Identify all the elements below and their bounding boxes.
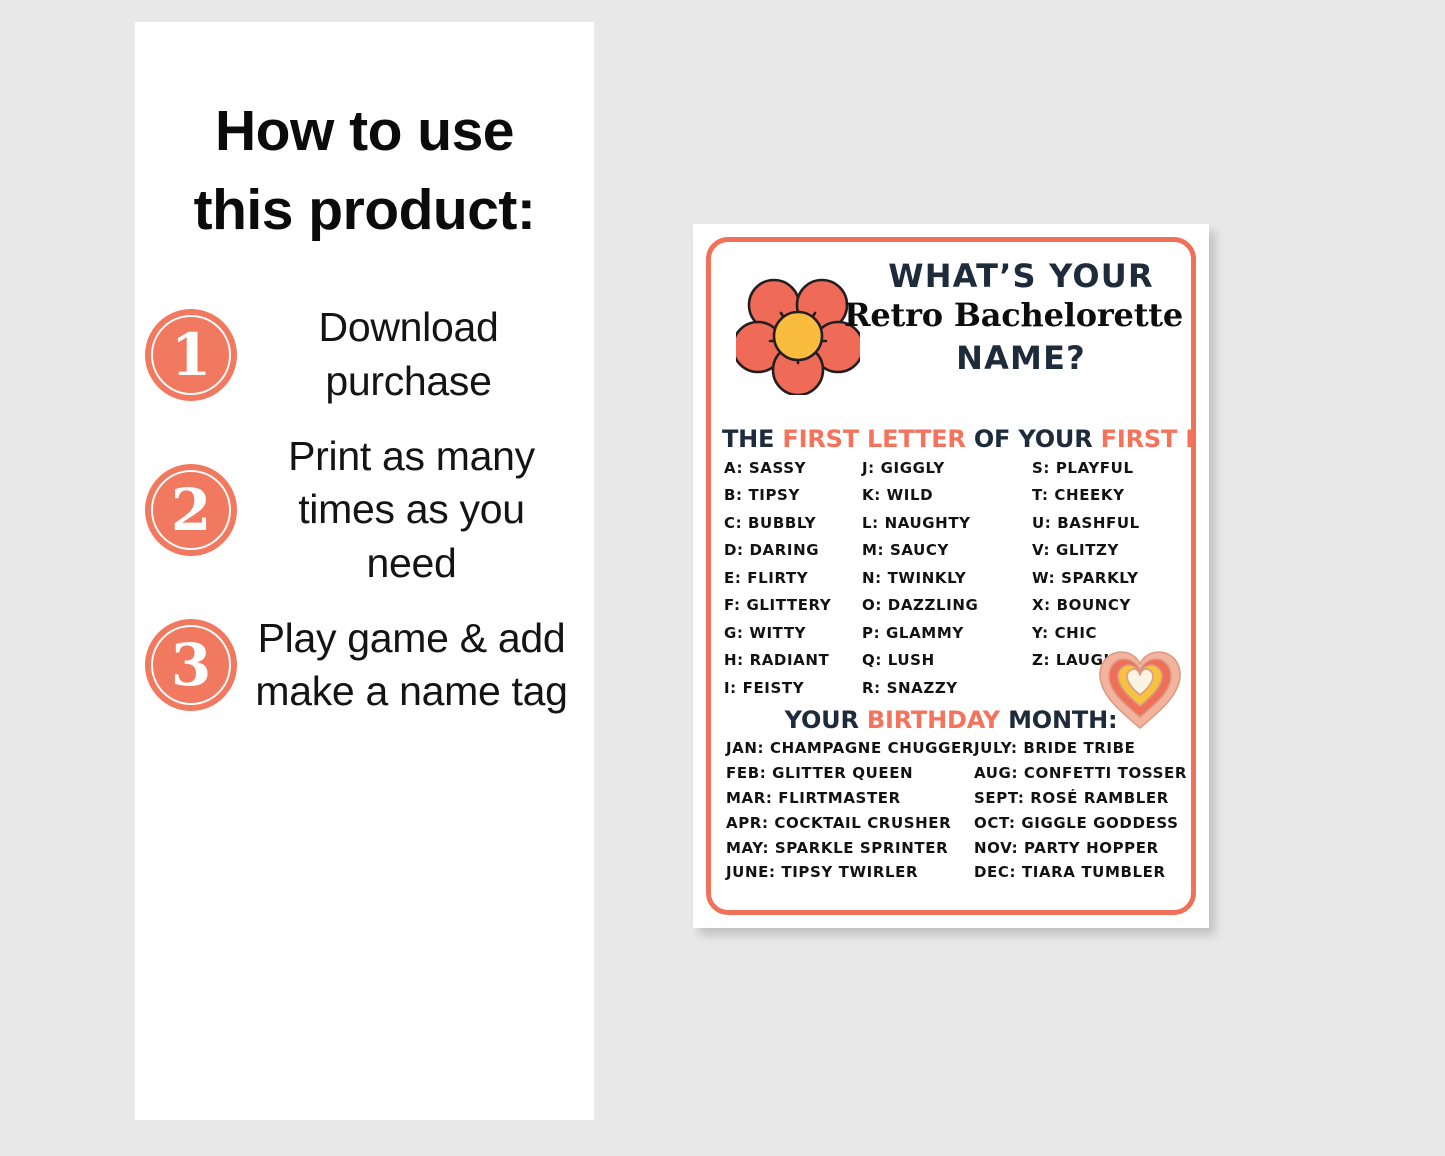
poster-title-line2: Retro Bachelorette: [844, 296, 1182, 336]
month-item: FEB: GLITTER QUEEN: [726, 761, 974, 786]
letters-column-1: A: SASSY B: TIPSY C: BUBBLY D: DARING E:…: [724, 455, 862, 702]
month-item: JULY: BRIDE TRIBE: [974, 736, 1196, 761]
months-heading-part2: BIRTHDAY: [867, 706, 1000, 734]
letter-item: Y: CHIC: [1032, 620, 1192, 647]
step-text-1: Download purchase: [251, 301, 572, 408]
step-text-2: Print as many times as you need: [251, 430, 572, 590]
letter-item: K: WILD: [862, 482, 1032, 509]
letter-item: J: GIGGLY: [862, 455, 1032, 482]
step-number-badge-3: 3: [145, 619, 237, 711]
letter-item: Q: LUSH: [862, 647, 1032, 674]
letter-item: W: SPARKLY: [1032, 565, 1192, 592]
months-column-2: JULY: BRIDE TRIBE AUG: CONFETTI TOSSER S…: [974, 736, 1196, 885]
letters-heading-part2: FIRST LETTER: [782, 425, 965, 453]
months-grid: JAN: CHAMPAGNE CHUGGER FEB: GLITTER QUEE…: [720, 736, 1182, 885]
letter-item: P: GLAMMY: [862, 620, 1032, 647]
list-item: 1 Download purchase: [145, 301, 572, 408]
step-number-2: 2: [171, 481, 211, 539]
letter-item: U: BASHFUL: [1032, 510, 1192, 537]
page-title: How to use this product:: [135, 22, 594, 249]
step-number-badge-1: 1: [145, 309, 237, 401]
letter-item: O: DAZZLING: [862, 592, 1032, 619]
month-item: MAR: FLIRTMASTER: [726, 786, 974, 811]
letter-item: M: SAUCY: [862, 537, 1032, 564]
months-heading-part1: YOUR: [785, 706, 867, 734]
letter-item: C: BUBBLY: [724, 510, 862, 537]
step-number-3: 3: [171, 636, 211, 694]
month-item: DEC: TIARA TUMBLER: [974, 860, 1196, 885]
letter-item: A: SASSY: [724, 455, 862, 482]
letter-item: N: TWINKLY: [862, 565, 1032, 592]
step-number-1: 1: [171, 326, 211, 384]
poster-title-block: WHAT’S YOUR Retro Bachelorette NAME?: [860, 259, 1182, 377]
month-item: APR: COCKTAIL CRUSHER: [726, 811, 974, 836]
letter-item: L: NAUGHTY: [862, 510, 1032, 537]
letter-item: F: GLITTERY: [724, 592, 862, 619]
letter-item: E: FLIRTY: [724, 565, 862, 592]
month-item: JUNE: TIPSY TWIRLER: [726, 860, 974, 885]
poster-title-line1: WHAT’S YOUR: [860, 259, 1182, 294]
letters-column-2: J: GIGGLY K: WILD L: NAUGHTY M: SAUCY N:…: [862, 455, 1032, 702]
poster-card: WHAT’S YOUR Retro Bachelorette NAME? THE…: [693, 224, 1209, 928]
months-column-1: JAN: CHAMPAGNE CHUGGER FEB: GLITTER QUEE…: [726, 736, 974, 885]
month-item: AUG: CONFETTI TOSSER: [974, 761, 1196, 786]
letters-heading-part3: OF YOUR: [966, 425, 1101, 453]
letters-section-heading: THE FIRST LETTER OF YOUR FIRST NAME:: [720, 427, 1182, 451]
steps-list: 1 Download purchase 2 Print as many time…: [135, 249, 594, 718]
letter-item: B: TIPSY: [724, 482, 862, 509]
month-item: JAN: CHAMPAGNE CHUGGER: [726, 736, 974, 761]
month-item: NOV: PARTY HOPPER: [974, 836, 1196, 861]
step-number-badge-2: 2: [145, 464, 237, 556]
flower-icon: [736, 271, 860, 395]
list-item: 3 Play game & add make a name tag: [145, 612, 572, 719]
letters-heading-part1: THE: [722, 425, 782, 453]
poster-header: WHAT’S YOUR Retro Bachelorette NAME?: [720, 253, 1182, 421]
letters-heading-part4: FIRST NAME:: [1101, 425, 1196, 453]
month-item: SEPT: ROSÉ RAMBLER: [974, 786, 1196, 811]
heart-icon: [1094, 644, 1186, 730]
month-item: OCT: GIGGLE GODDESS: [974, 811, 1196, 836]
letter-item: H: RADIANT: [724, 647, 862, 674]
letter-item: V: GLITZY: [1032, 537, 1192, 564]
letter-item: S: PLAYFUL: [1032, 455, 1192, 482]
instructions-panel: How to use this product: 1 Download purc…: [135, 22, 594, 1120]
letter-item: D: DARING: [724, 537, 862, 564]
letter-item: X: BOUNCY: [1032, 592, 1192, 619]
month-item: MAY: SPARKLE SPRINTER: [726, 836, 974, 861]
letter-item: T: CHEEKY: [1032, 482, 1192, 509]
step-text-3: Play game & add make a name tag: [251, 612, 572, 719]
list-item: 2 Print as many times as you need: [145, 430, 572, 590]
letter-item: G: WITTY: [724, 620, 862, 647]
poster-content: WHAT’S YOUR Retro Bachelorette NAME? THE…: [706, 237, 1196, 915]
letter-item: I: FEISTY: [724, 675, 862, 702]
letter-item: R: SNAZZY: [862, 675, 1032, 702]
poster-title-line3: NAME?: [860, 339, 1182, 377]
letters-grid: A: SASSY B: TIPSY C: BUBBLY D: DARING E:…: [720, 455, 1182, 702]
